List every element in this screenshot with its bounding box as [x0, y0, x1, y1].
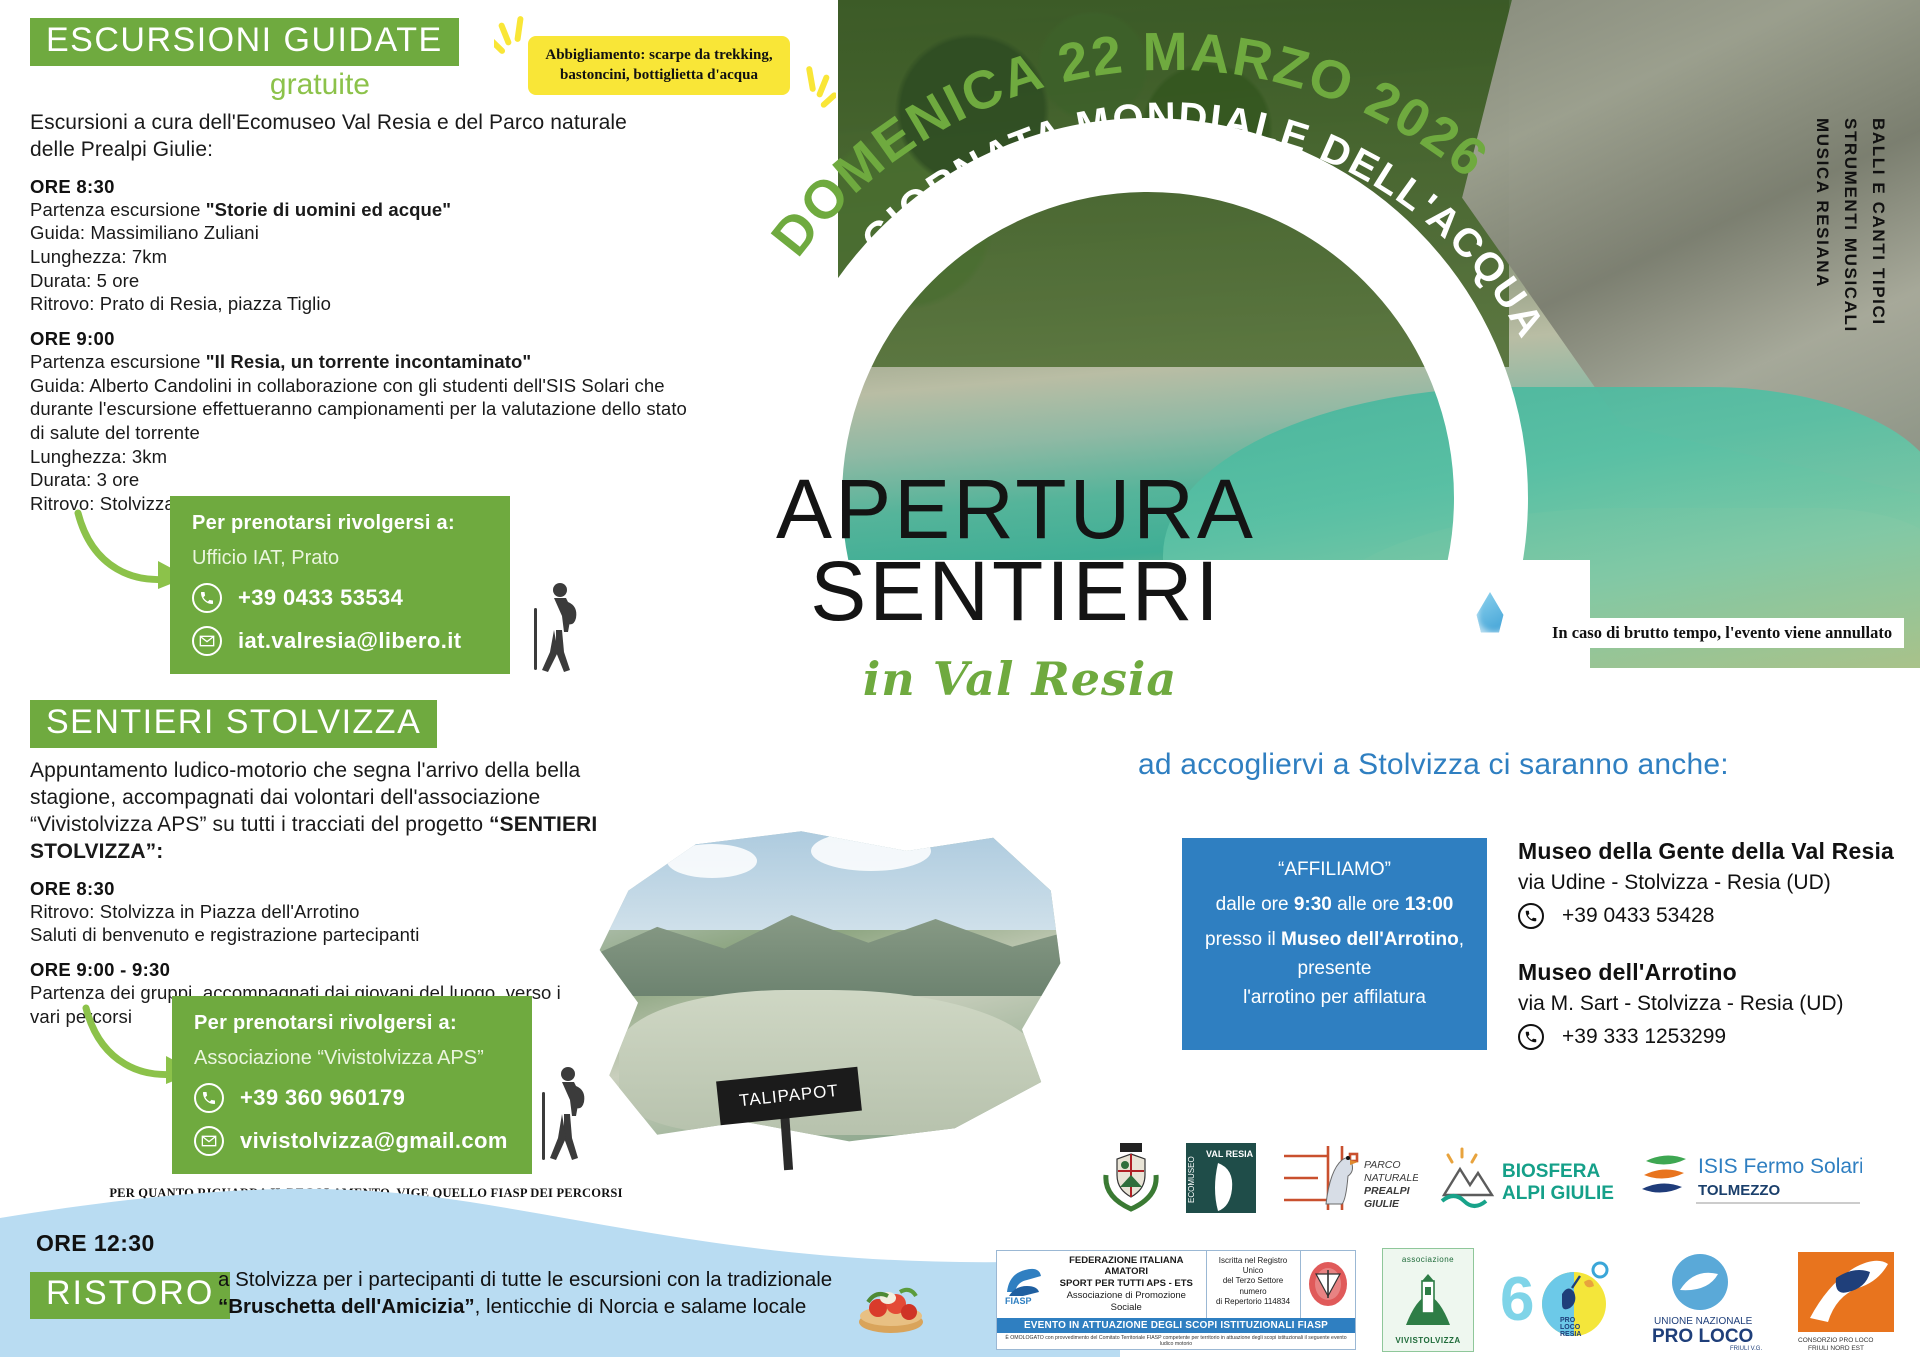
excursion-1-meeting: Ritrovo: Prato di Resia, piazza Tiglio	[30, 292, 690, 316]
affiliamo-place-name: Museo dell'Arrotino	[1281, 929, 1459, 950]
consorzio-line2: FRIULI NORD EST	[1808, 1345, 1864, 1352]
booking-1-email: iat.valresia@libero.it	[238, 628, 461, 654]
unpl-line2: PRO LOCO	[1652, 1326, 1753, 1347]
booking-1-title: Per prenotarsi rivolgersi a:	[192, 512, 490, 535]
affiliamo-box: “AFFILIAMO” dalle ore 9:30 alle ore 13:0…	[1182, 838, 1487, 1050]
svg-text:GIULIE: GIULIE	[1364, 1198, 1400, 1210]
svg-text:ALPI GIULIE: ALPI GIULIE	[1502, 1183, 1614, 1204]
logo-isis-fermo-solari: ISIS Fermo Solari TOLMEZZO	[1640, 1143, 1862, 1213]
vivi-top-label: associazione	[1383, 1255, 1473, 1264]
excursion-2-name: "Il Resia, un torrente incontaminato"	[206, 351, 532, 372]
stolvizza-item-1: ORE 8:30 Ritrovo: Stolvizza in Piazza de…	[30, 878, 690, 947]
booking-2-phone-row[interactable]: +39 360 960179	[194, 1083, 512, 1113]
affiliamo-title: “AFFILIAMO”	[1198, 856, 1471, 885]
escursioni-intro: Escursioni a cura dell'Ecomuseo Val Resi…	[30, 110, 650, 164]
sparkle-icon-right	[790, 62, 836, 122]
logo-ecomuseo-val-resia: ECOMUSEO VAL RESIA	[1184, 1141, 1258, 1215]
phone-icon	[1518, 1024, 1544, 1050]
affiliamo-place-pre: presso il	[1205, 929, 1281, 950]
booking-1-phone-row[interactable]: +39 0433 53534	[192, 583, 490, 613]
excursion-1-time: ORE 8:30	[30, 176, 690, 198]
ristoro-text: a Stolvizza per i partecipanti di tutte …	[218, 1266, 878, 1320]
logo-consorzio-proloco-friuli-nord-est: CONSORZIO PRO LOCO FRIULI NORD EST	[1792, 1248, 1908, 1352]
museum-2: Museo dell'Arrotino via M. Sart - Stolvi…	[1518, 959, 1918, 1050]
stolvizza-1-time: ORE 8:30	[30, 878, 690, 900]
consorzio-line1: CONSORZIO PRO LOCO	[1798, 1337, 1873, 1344]
excursion-1-title-line: Partenza escursione "Storie di uomini ed…	[30, 198, 690, 222]
svg-text:6: 6	[1500, 1265, 1534, 1334]
excursion-2-prefix: Partenza escursione	[30, 351, 206, 372]
excursion-1-prefix: Partenza escursione	[30, 199, 206, 220]
museum-2-phone: +39 333 1253299	[1562, 1025, 1726, 1049]
main-title-line2: SENTIERI	[706, 552, 1326, 632]
svg-text:BIOSFERA: BIOSFERA	[1502, 1161, 1600, 1182]
svg-text:LOCO: LOCO	[1560, 1324, 1581, 1331]
main-title: APERTURA SENTIERI	[706, 470, 1326, 632]
ecomuseo-label-vertical: ECOMUSEO	[1187, 1156, 1196, 1203]
museum-1-address: via Udine - Stolvizza - Resia (UD)	[1518, 871, 1918, 895]
signpost-label: TALIPAPOT	[738, 1081, 840, 1111]
hiker-silhouette-icon-2	[528, 1062, 598, 1170]
stolvizza-heading: SENTIERI STOLVIZZA	[30, 700, 437, 748]
ristoro-time: ORE 12:30	[36, 1230, 155, 1257]
vertical-caption-balli: BALLI E CANTI TIPICI	[1868, 118, 1888, 333]
fiasp-col-titles: FIASP FEDERAZIONE ITALIANA AMATORI SPORT…	[997, 1251, 1206, 1318]
booking-2-org: Associazione “Vivistolvizza APS”	[194, 1047, 512, 1070]
affiliamo-hours: dalle ore 9:30 alle ore 13:00	[1198, 891, 1471, 920]
fiasp-reg1: Iscritta nel Registro Unico	[1210, 1256, 1297, 1277]
ristoro-text-a: a Stolvizza per i partecipanti di tutte …	[218, 1268, 832, 1291]
booking-2-phone: +39 360 960179	[240, 1085, 405, 1111]
clothing-sticky-note: Abbigliamento: scarpe da trekking, basto…	[528, 36, 790, 95]
welcome-heading: ad accogliervi a Stolvizza ci saranno an…	[1138, 748, 1920, 782]
affiliamo-place: presso il Museo dell'Arrotino, presente	[1198, 926, 1471, 984]
unpl-line3: FRIULI V.G.	[1730, 1346, 1762, 1352]
booking-1-email-row[interactable]: iat.valresia@libero.it	[192, 626, 490, 656]
section-sentieri-stolvizza: SENTIERI STOLVIZZA Appuntamento ludico-m…	[30, 700, 690, 1028]
stolvizza-intro: Appuntamento ludico-motorio che segna l'…	[30, 758, 650, 866]
stolvizza-2-time: ORE 9:00 - 9:30	[30, 959, 690, 981]
vivistolvizza-tower-icon	[1402, 1271, 1454, 1329]
excursion-2-duration: Durata: 3 ore	[30, 468, 690, 492]
escursioni-subheading: gratuite	[30, 68, 370, 102]
fiasp-band: EVENTO IN ATTUAZIONE DEGLI SCOPI ISTITUZ…	[997, 1318, 1355, 1333]
museum-2-phone-row[interactable]: +39 333 1253299	[1518, 1024, 1918, 1050]
museum-2-address: via M. Sart - Stolvizza - Resia (UD)	[1518, 992, 1918, 1016]
logo-proloco-resia-60: 6 PRO LOCO RESIA	[1500, 1248, 1610, 1352]
excursion-2-length: Lunghezza: 3km	[30, 445, 690, 469]
museum-1-phone-row[interactable]: +39 0433 53428	[1518, 903, 1918, 929]
fiasp-fine-print: È OMOLOGATO con provvedimento del Comita…	[997, 1333, 1355, 1349]
svg-text:RESIA: RESIA	[1560, 1331, 1581, 1338]
fiasp-reg3: di Repertorio 114834	[1210, 1297, 1297, 1307]
escursioni-heading: ESCURSIONI GUIDATE	[30, 18, 459, 66]
affiliamo-time-end: 13:00	[1405, 894, 1454, 915]
booking-2-email: vivistolvizza@gmail.com	[240, 1128, 508, 1154]
museum-1-phone: +39 0433 53428	[1562, 904, 1714, 928]
fiasp-mark-icon: FIASP	[1001, 1262, 1047, 1306]
booking-1-org: Ufficio IAT, Prato	[192, 547, 490, 570]
excursion-2-guide: Guida: Alberto Candolini in collaborazio…	[30, 374, 690, 445]
svg-text:TOLMEZZO: TOLMEZZO	[1698, 1182, 1781, 1199]
museum-1-name: Museo della Gente della Val Resia	[1518, 838, 1918, 865]
phone-icon	[192, 583, 222, 613]
vertical-captions: MUSICA RESIANA STRUMENTI MUSICALI BALLI …	[1812, 118, 1888, 333]
phone-icon	[1518, 903, 1544, 929]
fiasp-top: FIASP FEDERAZIONE ITALIANA AMATORI SPORT…	[997, 1251, 1355, 1318]
excursion-1-duration: Durata: 5 ore	[30, 269, 690, 293]
svg-text:PRO: PRO	[1560, 1317, 1576, 1324]
envelope-icon	[194, 1126, 224, 1156]
logo-unione-nazionale-pro-loco: UNIONE NAZIONALE PRO LOCO FRIULI V.G.	[1636, 1248, 1766, 1352]
excursion-1-length: Lunghezza: 7km	[30, 245, 690, 269]
fiasp-seal	[1300, 1251, 1356, 1318]
excursion-item-1: ORE 8:30 Partenza escursione "Storie di …	[30, 176, 690, 316]
main-title-line1: APERTURA	[706, 470, 1326, 550]
vertical-caption-musica: MUSICA RESIANA	[1812, 118, 1832, 333]
fiasp-line3: Associazione di Promozione Sociale	[1051, 1290, 1202, 1314]
phone-icon	[194, 1083, 224, 1113]
booking-card-vivistolvizza: Per prenotarsi rivolgersi a: Associazion…	[172, 996, 532, 1174]
sponsor-logos-row-2: FIASP FEDERAZIONE ITALIANA AMATORI SPORT…	[996, 1248, 1908, 1352]
museums-list: Museo della Gente della Val Resia via Ud…	[1518, 838, 1918, 1050]
hiker-silhouette-icon-1	[520, 578, 590, 678]
fiasp-reg2: del Terzo Settore numero	[1210, 1276, 1297, 1297]
excursion-1-name: "Storie di uomini ed acque"	[206, 199, 451, 220]
booking-2-email-row[interactable]: vivistolvizza@gmail.com	[194, 1126, 512, 1156]
fiasp-seal-icon	[1306, 1260, 1350, 1308]
svg-text:PARCO: PARCO	[1364, 1159, 1401, 1171]
bruschetta-icon	[852, 1268, 930, 1338]
affiliamo-hours-mid: alle ore	[1332, 894, 1405, 915]
sponsor-logos-row-1: ECOMUSEO VAL RESIA PARCO NATURALE PREALP…	[1100, 1138, 1862, 1218]
poster-root: GIORNATA MONDIALE DELL'ACQUA DOMENICA 22…	[0, 0, 1920, 1357]
bad-weather-note: In caso di brutto tempo, l'evento viene …	[1540, 618, 1904, 648]
booking-1-phone: +39 0433 53534	[238, 585, 403, 611]
logo-biosfera-alpi-giulie: BIOSFERA ALPI GIULIE	[1440, 1143, 1618, 1213]
svg-text:NATURALE: NATURALE	[1364, 1172, 1418, 1184]
affiliamo-activity: l'arrotino per affilatura	[1198, 984, 1471, 1013]
svg-text:PREALPI: PREALPI	[1364, 1185, 1411, 1197]
main-title-script: in Val Resia	[740, 652, 1300, 706]
affiliamo-time-start: 9:30	[1294, 894, 1332, 915]
sparkle-icon-left	[494, 16, 540, 76]
booking-card-iat: Per prenotarsi rivolgersi a: Ufficio IAT…	[170, 496, 510, 674]
museum-1: Museo della Gente della Val Resia via Ud…	[1518, 838, 1918, 929]
valresia-label: VAL RESIA	[1206, 1149, 1254, 1159]
vertical-caption-strumenti: STRUMENTI MUSICALI	[1840, 118, 1860, 333]
logo-vivistolvizza: associazione VIVISTOLVIZZA	[1382, 1248, 1474, 1352]
stolvizza-1-line1: Ritrovo: Stolvizza in Piazza dell'Arroti…	[30, 900, 690, 924]
fiasp-registry: Iscritta nel Registro Unico del Terzo Se…	[1206, 1251, 1300, 1318]
vivi-bottom-label: VIVISTOLVIZZA	[1383, 1336, 1473, 1345]
logo-parco-prealpi-giulie: PARCO NATURALE PREALPI GIULIE	[1280, 1138, 1418, 1218]
svg-text:FIASP: FIASP	[1005, 1296, 1032, 1306]
ristoro-text-c: , lenticchie di Norcia e salame locale	[475, 1295, 807, 1318]
ristoro-text-b: “Bruschetta dell'Amicizia”	[218, 1295, 475, 1318]
excursion-2-title-line: Partenza escursione "Il Resia, un torren…	[30, 350, 690, 374]
ristoro-badge: RISTORO	[30, 1272, 230, 1319]
excursion-1-guide: Guida: Massimiliano Zuliani	[30, 221, 690, 245]
booking-2-title: Per prenotarsi rivolgersi a:	[194, 1012, 512, 1035]
svg-text:ISIS Fermo Solari: ISIS Fermo Solari	[1698, 1155, 1862, 1178]
museum-2-name: Museo dell'Arrotino	[1518, 959, 1918, 986]
logo-fiasp-box: FIASP FEDERAZIONE ITALIANA AMATORI SPORT…	[996, 1250, 1356, 1351]
envelope-icon	[192, 626, 222, 656]
stolvizza-1-line2: Saluti di benvenuto e registrazione part…	[30, 923, 690, 947]
logo-comune-crest	[1100, 1141, 1162, 1215]
fiasp-line1: FEDERAZIONE ITALIANA AMATORI	[1051, 1255, 1202, 1279]
excursion-item-2: ORE 9:00 Partenza escursione "Il Resia, …	[30, 328, 690, 516]
affiliamo-hours-pre: dalle ore	[1216, 894, 1294, 915]
fiasp-line2: SPORT PER TUTTI APS - ETS	[1051, 1278, 1202, 1290]
excursion-2-time: ORE 9:00	[30, 328, 690, 350]
